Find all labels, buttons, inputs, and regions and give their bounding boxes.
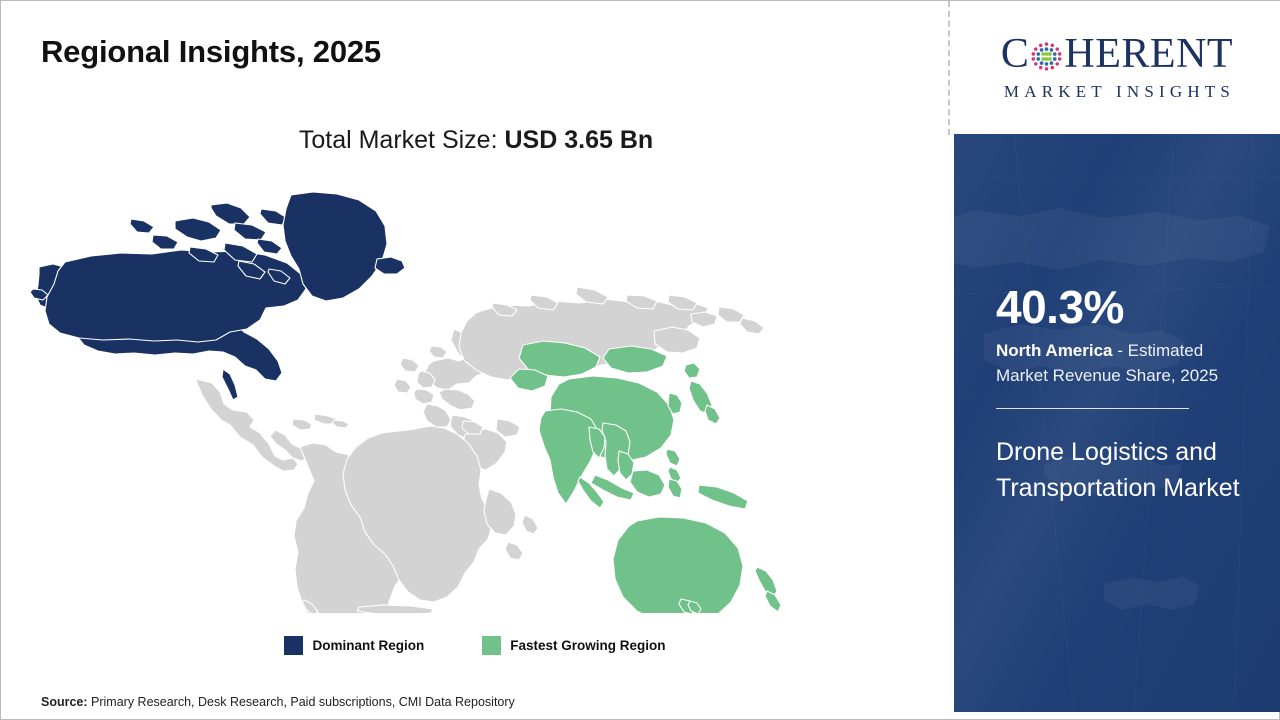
source-footnote: Source: Primary Research, Desk Research,… [41, 695, 515, 709]
market-share-value: 40.3% [996, 284, 1254, 330]
legend-item-fastest-growing: Fastest Growing Region [482, 636, 665, 655]
world-map-svg [29, 183, 841, 613]
logo-tagline: MARKET INSIGHTS [999, 82, 1235, 102]
logo-letter-c: C [1001, 33, 1030, 75]
legend-label-dominant: Dominant Region [312, 638, 424, 653]
region-name: North America [996, 341, 1113, 360]
map-region-north-america [30, 192, 405, 400]
world-map-container [29, 183, 841, 613]
report-title: Drone Logistics and Transportation Marke… [996, 435, 1254, 507]
page-title: Regional Insights, 2025 [41, 34, 381, 70]
navy-square-swatch [284, 636, 303, 655]
legend-label-fastest-growing: Fastest Growing Region [510, 638, 665, 653]
coherent-market-insights-logo: C [954, 1, 1280, 134]
left-content-panel: Regional Insights, 2025 Total Market Siz… [1, 1, 949, 719]
map-legend: Dominant Region Fastest Growing Region [1, 636, 949, 655]
logo-wordmark: C [1001, 33, 1233, 75]
green-square-swatch [482, 636, 501, 655]
source-label: Source: [41, 695, 88, 709]
source-text: Primary Research, Desk Research, Paid su… [88, 695, 515, 709]
panel-content: 40.3% North America - Estimated Market R… [996, 134, 1254, 507]
panel-divider-rule [996, 408, 1189, 409]
market-size-prefix: Total Market Size: [299, 126, 505, 154]
legend-item-dominant: Dominant Region [284, 636, 424, 655]
highlight-panel: 40.3% North America - Estimated Market R… [954, 134, 1280, 712]
map-region-asia-pacific [510, 341, 781, 613]
dotted-globe-icon [1030, 40, 1063, 73]
market-size-value: USD 3.65 Bn [504, 126, 653, 154]
total-market-size: Total Market Size: USD 3.65 Bn [41, 126, 911, 155]
logo-letters-herent: HERENT [1064, 33, 1233, 75]
vertical-dashed-divider [948, 1, 950, 135]
market-share-caption: North America - Estimated Market Revenue… [996, 339, 1254, 388]
